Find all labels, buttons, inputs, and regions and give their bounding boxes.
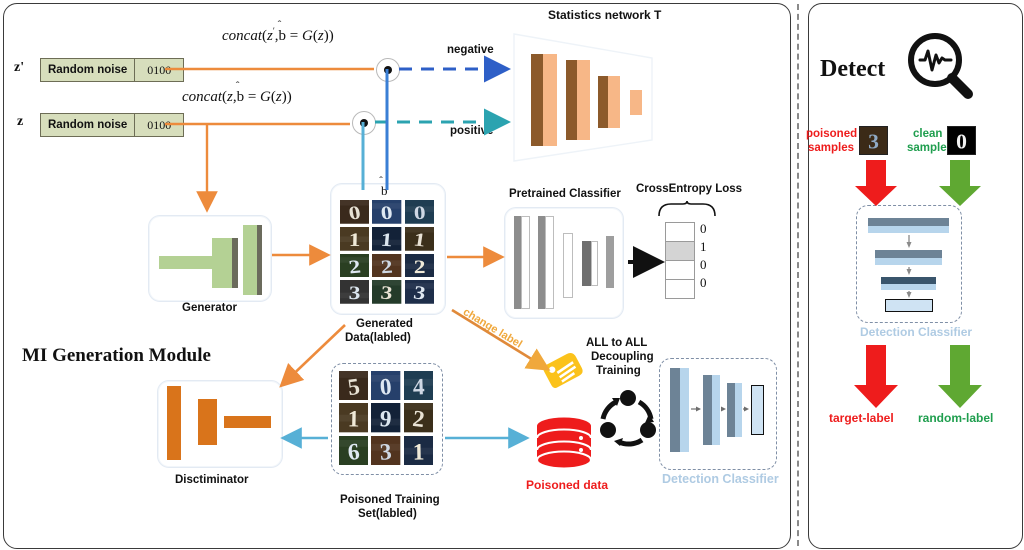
crossentropy-vector — [665, 222, 695, 299]
random-noise-label: Random noise — [41, 59, 135, 81]
statnet-layer-1-light — [543, 54, 557, 146]
random-noise-value: 0100 — [135, 59, 183, 81]
all-to-all-line2: Decoupling — [591, 351, 654, 363]
digit-thumbnail: 9 — [371, 403, 400, 432]
random-noise-label: Random noise — [41, 114, 135, 136]
generator-layer-3 — [243, 225, 257, 295]
poisoned-data-label: Poisoned data — [526, 478, 608, 492]
target-label-output: target-label — [829, 411, 894, 425]
svg-text:0: 0 — [956, 130, 967, 154]
digit-thumbnail: 6 — [339, 436, 368, 465]
svg-text:1: 1 — [348, 407, 360, 433]
generator-box — [148, 215, 272, 302]
all-to-all-line3: Training — [596, 365, 641, 377]
digit-thumbnail: 0 — [405, 200, 434, 224]
crossentropy-label: CrossEntropy Loss — [636, 183, 742, 195]
digit-thumbnail: 3 — [371, 436, 400, 465]
generator-label: Generator — [182, 302, 237, 314]
pc-layer-2-dark — [538, 216, 545, 309]
clean-sample-thumbnail: 0 — [947, 126, 976, 155]
digit-thumbnail: 3 — [372, 280, 401, 304]
input-symbol-z: z — [17, 114, 23, 130]
digit-thumbnail: 3 — [405, 280, 434, 304]
pc-layer-5 — [606, 236, 614, 288]
statistics-network-box — [512, 30, 654, 165]
statnet-layer-2-dark — [566, 60, 577, 140]
discriminator-label: Disctiminator — [175, 474, 249, 486]
generator-layer-1 — [159, 256, 214, 269]
svg-text:1: 1 — [349, 229, 361, 251]
database-icon — [533, 416, 595, 470]
pc-layer-2-light — [545, 216, 554, 309]
digit-thumbnail: 1 — [405, 227, 434, 251]
svg-text:0: 0 — [413, 202, 426, 224]
crossentropy-value-text: 0 — [700, 275, 707, 291]
diagram-canvas: z' z Random noise 0100 Random noise 0100… — [0, 0, 1024, 550]
clean-samples-label-1: clean — [913, 128, 942, 140]
digit-thumbnail: 5 — [339, 371, 368, 400]
panel-divider — [797, 4, 799, 546]
input-symbol-z-prime: z' — [14, 60, 24, 76]
generated-data-caption-1: Generated — [356, 318, 413, 330]
poisoned-samples-label-1: poisoned — [806, 128, 857, 140]
svg-text:3: 3 — [380, 282, 394, 304]
crossentropy-value-text: 0 — [700, 221, 707, 237]
digit-thumbnail: 2 — [372, 254, 401, 278]
disc-layer-1 — [167, 386, 181, 460]
crossentropy-cell — [666, 280, 694, 298]
poisoned-training-set-grid: 504192631 — [339, 371, 433, 465]
digit-thumbnail: 1 — [404, 436, 433, 465]
generated-data-grid: 000111222333 — [340, 200, 434, 304]
poisoned-sample-thumbnail: 3 — [859, 126, 888, 155]
digit-thumbnail: 4 — [404, 371, 433, 400]
pc-layer-1-light — [521, 216, 530, 309]
pc-layer-3 — [563, 233, 573, 298]
module-title: MI Generation Module — [22, 345, 211, 367]
random-noise-box-z[interactable]: Random noise 0100 — [40, 113, 184, 137]
all-to-all-line1: ALL to ALL — [586, 337, 647, 349]
detection-classifier-box-mid — [659, 358, 777, 470]
statnet-layer-2-light — [577, 60, 590, 140]
poisoned-set-caption-1: Poisoned Training — [340, 494, 440, 506]
random-noise-value: 0100 — [135, 114, 183, 136]
svg-text:3: 3 — [868, 130, 879, 154]
digit-thumbnail: 1 — [372, 227, 401, 251]
generator-layer-3-shadow — [257, 225, 262, 295]
svg-text:0: 0 — [379, 374, 393, 400]
detection-classifier-box-right — [856, 205, 962, 323]
concat-junction-negative — [376, 58, 400, 82]
digit-thumbnail: 2 — [405, 254, 434, 278]
random-label-output: random-label — [918, 411, 993, 425]
generator-layer-2-shadow — [232, 238, 238, 288]
generator-layer-2 — [212, 238, 232, 288]
crossentropy-cell — [666, 261, 694, 280]
svg-text:0: 0 — [380, 202, 394, 224]
svg-text:9: 9 — [379, 406, 393, 432]
crossentropy-brace-icon — [657, 200, 717, 218]
statnet-layer-1-dark — [531, 54, 543, 146]
random-noise-box-z-prime[interactable]: Random noise 0100 — [40, 58, 184, 82]
svg-text:3: 3 — [348, 282, 361, 304]
detect-title: Detect — [820, 56, 885, 83]
digit-thumbnail: 3 — [340, 280, 369, 304]
formula-concat-z-prime: concat(z′,̂b = G(z)) — [222, 26, 334, 45]
pc-layer-4-dark — [582, 241, 591, 286]
svg-text:1: 1 — [380, 229, 394, 251]
generated-data-hat-label: ̂b — [381, 183, 388, 199]
statistics-network-title: Statistics network T — [548, 8, 661, 22]
svg-text:1: 1 — [412, 439, 424, 465]
discriminator-box — [157, 380, 283, 468]
crossentropy-value-text: 0 — [700, 257, 707, 273]
detection-classifier-label-right: Detection Classifier — [860, 325, 972, 339]
disc-layer-2 — [198, 399, 217, 445]
svg-text:2: 2 — [380, 255, 394, 277]
poisoned-samples-label-2: samples — [808, 142, 854, 154]
digit-thumbnail: 0 — [371, 371, 400, 400]
pretrained-classifier-box — [504, 207, 624, 319]
digit-thumbnail: 1 — [340, 227, 369, 251]
pc-layer-4-light — [591, 241, 598, 286]
pc-layer-1-dark — [514, 216, 521, 309]
generated-data-caption-2: Data(labled) — [345, 332, 411, 344]
detection-classifier-label-mid: Detection Classifier — [662, 472, 779, 486]
svg-text:4: 4 — [412, 374, 425, 400]
digit-thumbnail: 0 — [372, 200, 401, 224]
edge-label-positive: positive — [450, 125, 493, 137]
magnifier-pulse-icon — [905, 30, 979, 102]
cyclic-arrows-icon — [594, 386, 662, 454]
svg-text:3: 3 — [379, 439, 393, 465]
poisoned-set-caption-2: Set(labled) — [358, 508, 417, 520]
formula-concat-z: concat(z,̂b = G(z)) — [182, 89, 292, 106]
edge-label-negative: negative — [447, 44, 494, 56]
crossentropy-value-text: 1 — [700, 239, 707, 255]
digit-thumbnail: 0 — [340, 200, 369, 224]
statnet-layer-3-light — [608, 76, 620, 128]
crossentropy-cell — [666, 223, 694, 242]
price-tag-icon — [543, 348, 589, 388]
disc-layer-3 — [224, 416, 271, 428]
pretrained-classifier-label: Pretrained Classifier — [509, 188, 621, 200]
digit-thumbnail: 1 — [339, 403, 368, 432]
concat-junction-positive — [352, 111, 376, 135]
statnet-layer-4 — [630, 90, 642, 115]
statnet-layer-3-dark — [598, 76, 608, 128]
crossentropy-cell — [666, 242, 694, 261]
svg-text:2: 2 — [413, 256, 425, 278]
digit-thumbnail: 2 — [340, 254, 369, 278]
digit-thumbnail: 2 — [404, 403, 433, 432]
